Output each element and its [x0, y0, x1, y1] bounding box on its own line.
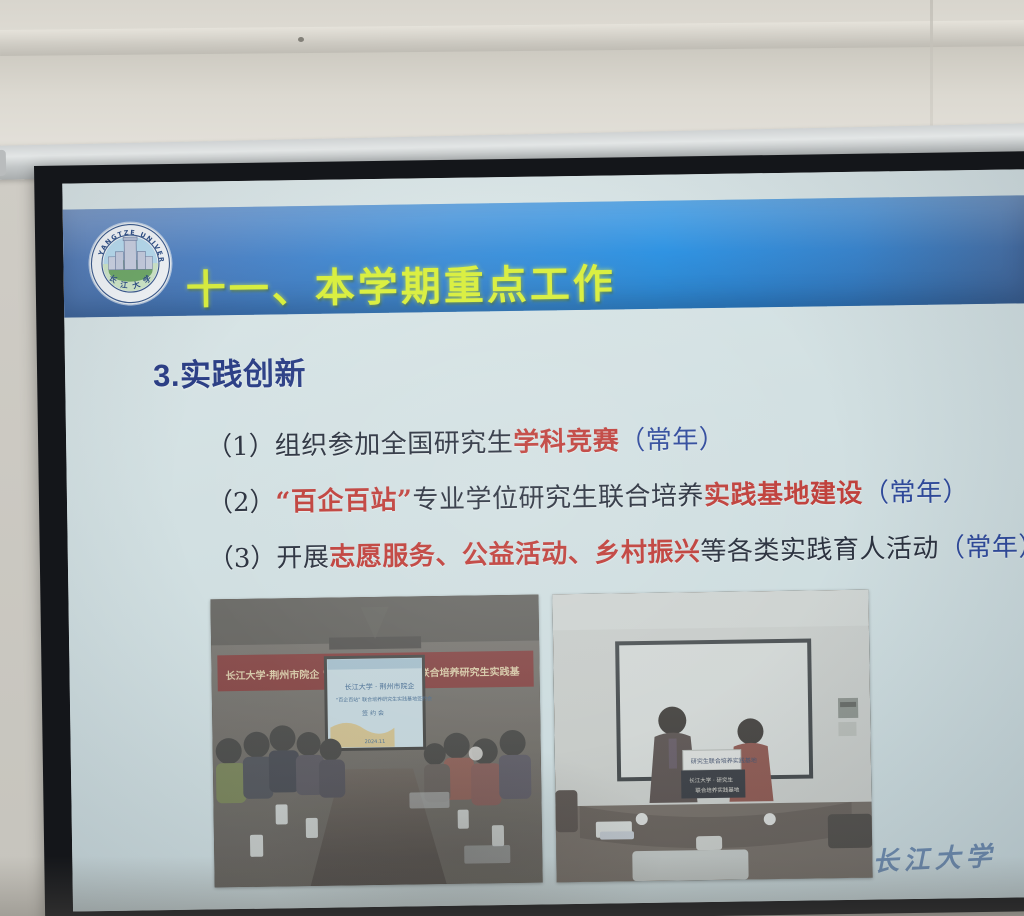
- photo-plaque-presentation: 研究生联合培养实践基地 长江大学 · 研究生 联合培养实践基地: [552, 590, 872, 883]
- bullet-text-red: 实践基地建设: [704, 479, 863, 511]
- bullet-text-normal: 专业学位研究生联合培养: [412, 481, 704, 515]
- bullet-item: （3）开展志愿服务、公益活动、乡村振兴等各类实践育人活动（常年）: [207, 519, 1018, 587]
- slide-title-band: YANGTZE UNIVERSITY 长江大学 十一、本学期重点工作: [63, 195, 1024, 317]
- projection-surface: YANGTZE UNIVERSITY 长江大学 十一、本学期重点工作 3.实践创…: [62, 169, 1024, 911]
- projected-slide-photo: ThreeSt: [0, 0, 1024, 916]
- slide-title: 十一、本学期重点工作: [185, 251, 616, 315]
- yangtze-university-seal-icon: YANGTZE UNIVERSITY 长江大学: [89, 222, 172, 305]
- bullet-text-normal: 开展: [276, 543, 329, 574]
- slide-signature: 长江大学: [872, 836, 998, 879]
- bullet-text-normal: 组织参加全国研究生: [275, 428, 514, 462]
- photo-row: 长江大学·荆州市院企 "百 联合培养研究生实践基 长江大学 · 荆州市院企 "百…: [210, 590, 872, 888]
- ceiling-fixture-dot: [298, 37, 304, 42]
- projector-screen-end-cap: [0, 150, 6, 176]
- photo-conference-room: 长江大学·荆州市院企 "百 联合培养研究生实践基 长江大学 · 荆州市院企 "百…: [210, 595, 542, 888]
- presentation-slide: YANGTZE UNIVERSITY 长江大学 十一、本学期重点工作 3.实践创…: [62, 169, 1024, 911]
- bullet-index: （1）: [206, 431, 275, 462]
- bullet-text-blue: （常年）: [863, 477, 969, 509]
- bullet-index: （3）: [208, 543, 277, 574]
- bullet-text-red: “百企百站”: [275, 485, 412, 517]
- bullet-text-blue: （常年）: [939, 532, 1024, 564]
- section-heading: 3.实践创新: [153, 348, 307, 395]
- bullet-list: （1）组织参加全国研究生学科竞赛（常年）（2）“百企百站”专业学位研究生联合培养…: [206, 407, 1018, 587]
- bullet-text-normal: 等各类实践育人活动: [700, 534, 939, 568]
- bullet-text-red: 学科竞赛: [513, 426, 619, 458]
- bullet-text-red: 志愿服务、公益活动、乡村振兴: [329, 537, 700, 573]
- projector-screen-frame: YANGTZE UNIVERSITY 长江大学 十一、本学期重点工作 3.实践创…: [34, 151, 1024, 916]
- bullet-index: （2）: [207, 487, 276, 518]
- bullet-text-blue: （常年）: [619, 425, 725, 457]
